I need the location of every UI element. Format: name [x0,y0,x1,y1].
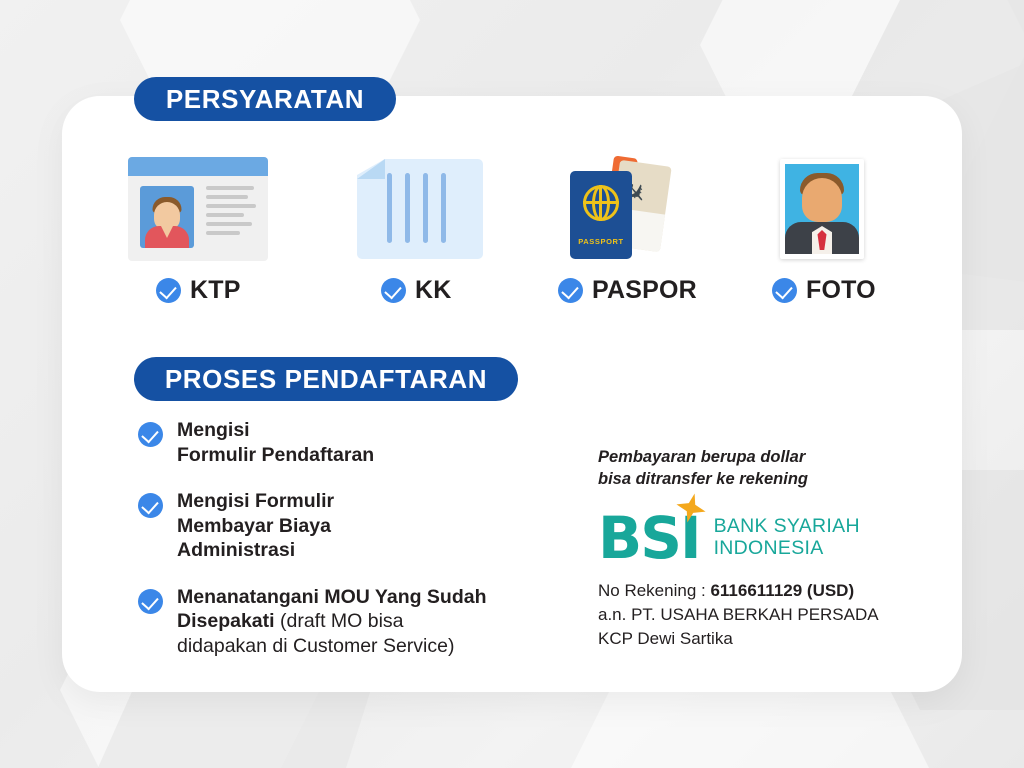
account-number-row: No Rekening : 6116611129 (USD) [598,579,908,603]
family-card-document-icon [335,150,515,268]
requirement-label: KTP [190,276,241,305]
requirement-item-ktp: KTP [120,150,300,305]
process-step-text: MengisiFormulir Pendaftaran [177,418,374,467]
account-number-label: No Rekening : [598,581,710,600]
bsi-mark-text: BSI [598,504,700,572]
payment-note-line2: bisa ditransfer ke rekening [598,468,908,490]
bsi-wordmark: BSI [598,509,700,567]
requirement-item-kk: KK [335,150,515,305]
bsi-name-line2: INDONESIA [714,538,860,559]
process-step-list: MengisiFormulir Pendaftaran Mengisi Form… [138,418,538,681]
requirement-label: PASPOR [592,276,697,305]
section-badge-persyaratan: PERSYARATAN [134,77,396,121]
check-icon [772,278,797,303]
check-icon [156,278,181,303]
requirement-label: KK [415,276,452,305]
payment-panel: Pembayaran berupa dollar bisa ditransfer… [598,446,908,651]
passport-icon: ✈ PASSPORT [540,150,720,268]
id-card-icon [120,150,300,268]
passport-icon-text: PASSPORT [570,237,632,246]
account-number-value: 6116611129 (USD) [710,581,854,600]
process-step-text: Menanatangani MOU Yang SudahDisepakati (… [177,585,487,659]
check-icon [138,589,163,614]
process-step: Mengisi FormulirMembayar BiayaAdministra… [138,489,538,563]
bsi-bank-name: BANK SYARIAH INDONESIA [714,516,860,558]
process-step: MengisiFormulir Pendaftaran [138,418,538,467]
bsi-name-line1: BANK SYARIAH [714,516,860,537]
payment-note: Pembayaran berupa dollar bisa ditransfer… [598,446,908,491]
bsi-logo: BSI BANK SYARIAH INDONESIA [598,509,908,567]
account-details: No Rekening : 6116611129 (USD) a.n. PT. … [598,579,908,651]
photo-portrait-icon [750,150,930,268]
requirement-item-paspor: ✈ PASSPORT PASPOR [540,150,720,305]
process-step: Menanatangani MOU Yang SudahDisepakati (… [138,585,538,659]
check-icon [138,422,163,447]
account-branch: KCP Dewi Sartika [598,627,908,651]
check-icon [381,278,406,303]
check-icon [558,278,583,303]
account-holder: a.n. PT. USAHA BERKAH PERSADA [598,603,908,627]
check-icon [138,493,163,518]
requirements-row: KTP KK [120,150,910,315]
process-step-text: Mengisi FormulirMembayar BiayaAdministra… [177,489,334,563]
section-badge-proses-pendaftaran: PROSES PENDAFTARAN [134,357,518,401]
payment-note-line1: Pembayaran berupa dollar [598,446,908,468]
requirement-item-foto: FOTO [750,150,930,305]
requirement-label: FOTO [806,276,876,305]
